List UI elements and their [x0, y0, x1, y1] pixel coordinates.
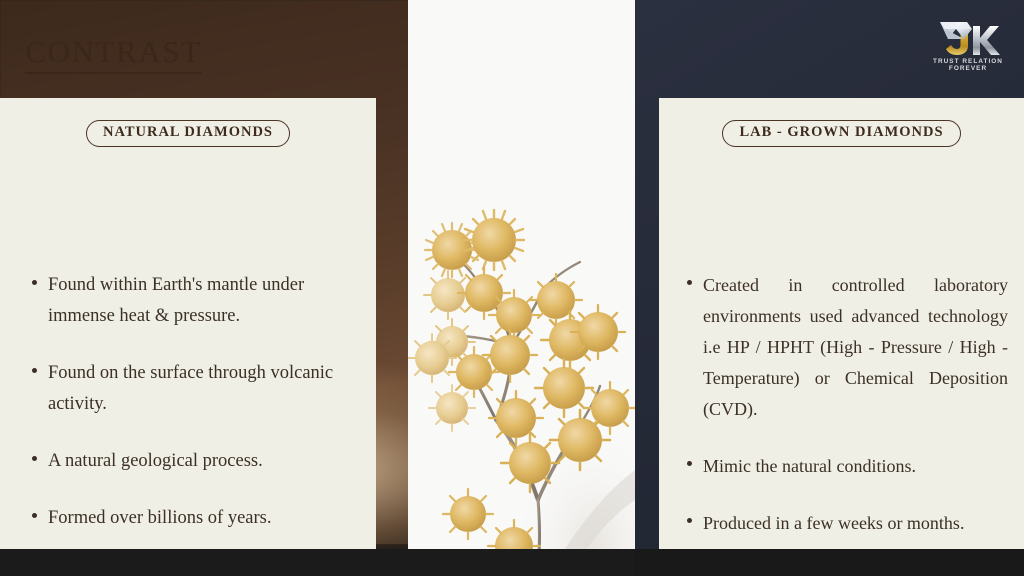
slide-root: CONTRAST CORE DIFFERENCES IN ORIGIN NATU…: [0, 0, 1024, 576]
list-item: A natural geological process.: [28, 446, 358, 477]
right-panel-heading: LAB - GROWN DIAMONDS: [722, 120, 960, 147]
list-item: Mimic the natural conditions.: [683, 451, 1008, 482]
logo-mark: [916, 20, 1020, 56]
dried-flower-branch-image: [408, 0, 635, 576]
center-column-background: [408, 0, 635, 576]
list-item: Found on the surface through volcanic ac…: [28, 358, 358, 420]
list-item: Produced in a few weeks or months.: [683, 508, 1008, 539]
page-title: CONTRAST: [25, 36, 201, 74]
left-panel-bullet-list: Found within Earth's mantle under immens…: [28, 270, 358, 534]
right-panel: LAB - GROWN DIAMONDS Created in controll…: [659, 98, 1024, 549]
list-item: Created in controlled laboratory environ…: [683, 270, 1008, 425]
brand-logo[interactable]: TRUST RELATION FOREVER: [916, 20, 1020, 72]
right-panel-heading-wrap: LAB - GROWN DIAMONDS: [659, 120, 1024, 147]
left-panel-heading-wrap: NATURAL DIAMONDS: [0, 120, 376, 147]
left-panel: NATURAL DIAMONDS Found within Earth's ma…: [0, 98, 376, 549]
logo-tagline: TRUST RELATION FOREVER: [916, 58, 1020, 72]
center-title-block: CONTRAST: [0, 36, 227, 74]
left-panel-heading: NATURAL DIAMONDS: [86, 120, 290, 147]
list-item: Found within Earth's mantle under immens…: [28, 270, 358, 332]
jk-diamond-logo-icon: [916, 20, 1020, 56]
list-item: Formed over billions of years.: [28, 503, 358, 534]
right-panel-bullet-list: Created in controlled laboratory environ…: [683, 270, 1008, 539]
bottom-dark-strip-right: [635, 549, 1024, 576]
